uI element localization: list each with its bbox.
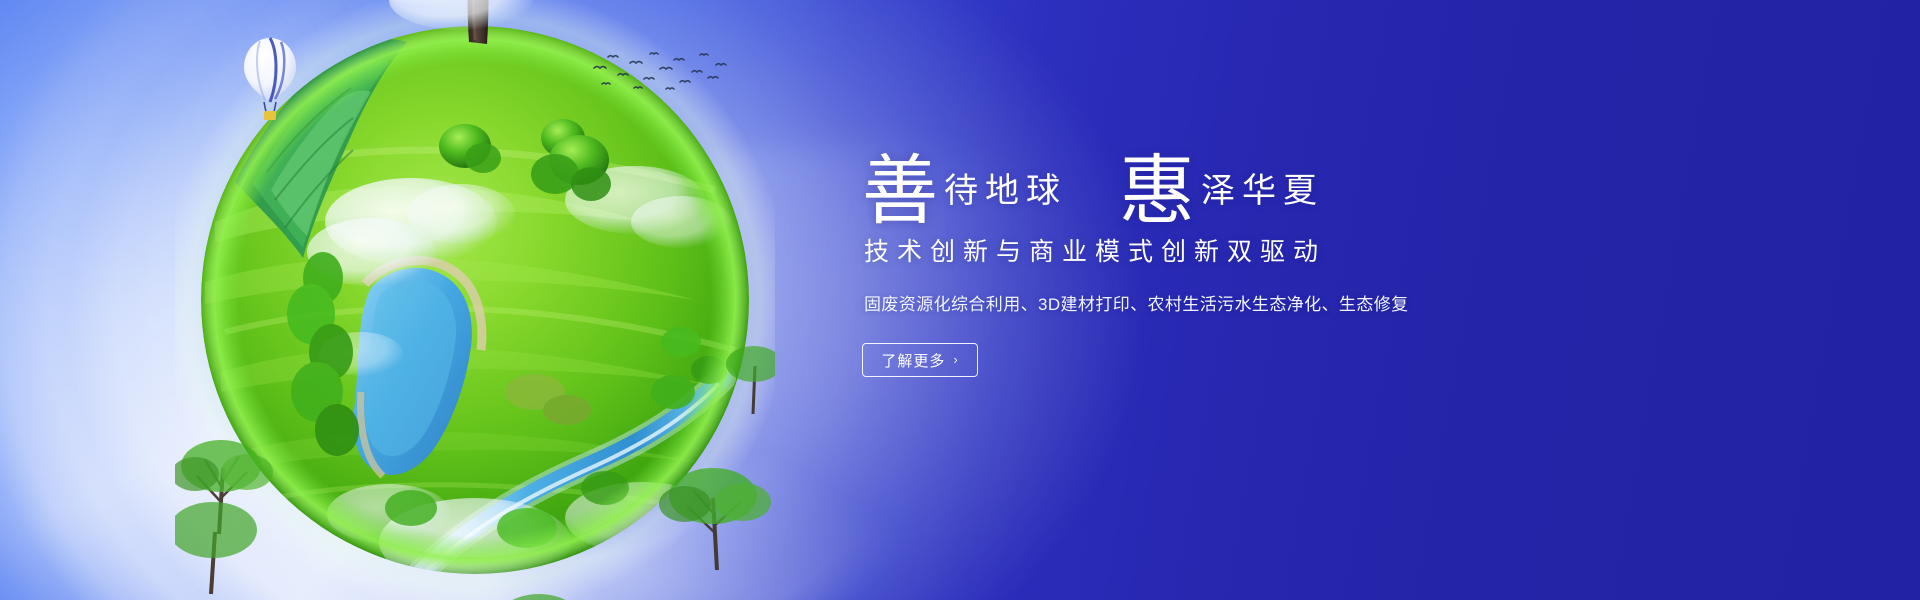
headline-group-2: 惠 泽华夏: [1119, 152, 1324, 222]
headline-lead-char-2: 惠: [1119, 156, 1195, 226]
hero-copy: 善 待地球 惠 泽华夏 技术创新与商业模式创新双驱动 固废资源化综合利用、3D建…: [862, 126, 1812, 377]
balloon-envelope: [244, 38, 296, 102]
headline-rest-1: 待地球: [944, 174, 1067, 208]
headline-lead-char-1: 善: [862, 156, 938, 226]
bird-flock-icon: [588, 48, 728, 94]
hero-headline: 善 待地球 惠 泽华夏: [862, 126, 1812, 222]
headline-rest-2: 泽华夏: [1201, 174, 1324, 208]
learn-more-button[interactable]: 了解更多 ›: [862, 343, 978, 377]
learn-more-label: 了解更多: [881, 350, 945, 371]
hot-air-balloon-icon: [240, 36, 300, 122]
hero-description: 固废资源化综合利用、3D建材打印、农村生活污水生态净化、生态修复: [864, 290, 1812, 315]
balloon-basket: [264, 111, 276, 120]
chevron-right-icon: ›: [953, 352, 958, 367]
hero-banner: 善 待地球 惠 泽华夏 技术创新与商业模式创新双驱动 固废资源化综合利用、3D建…: [0, 0, 1920, 600]
headline-group-1: 善 待地球: [862, 152, 1067, 222]
hero-subtitle: 技术创新与商业模式创新双驱动: [864, 232, 1812, 268]
